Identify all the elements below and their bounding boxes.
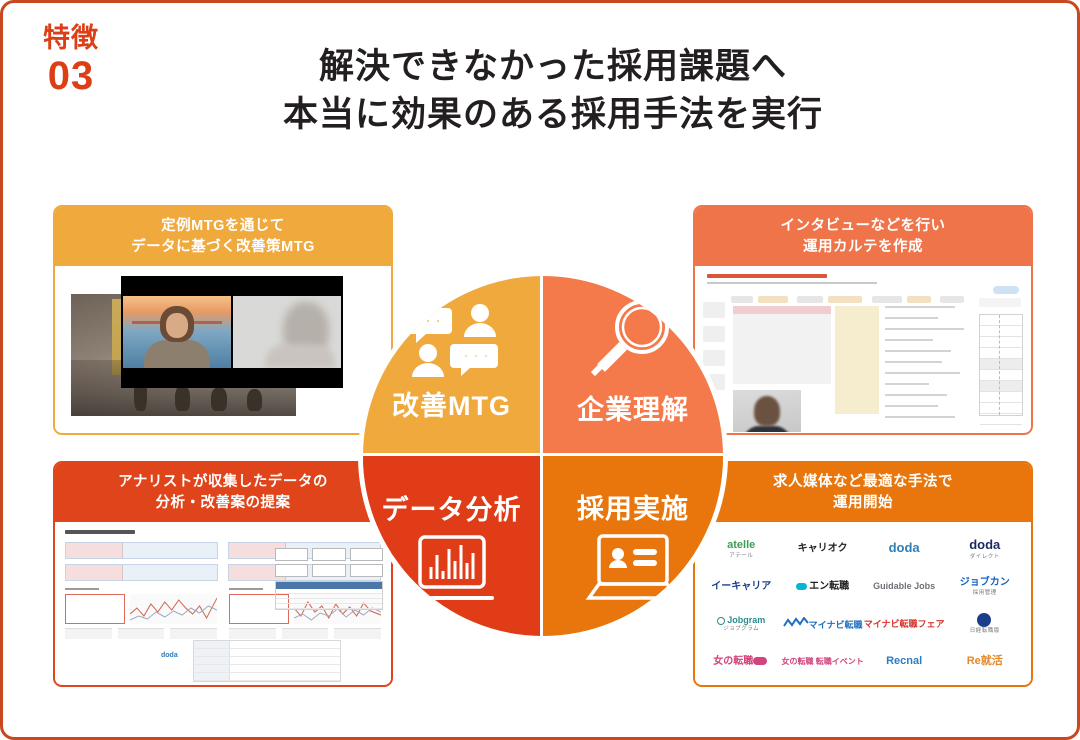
mynavi-mark-icon xyxy=(783,617,809,628)
photo-person xyxy=(175,385,190,411)
page-title-line-1: 解決できなかった採用課題へ xyxy=(153,43,953,91)
metric-highlight xyxy=(65,594,125,624)
logo-atelle: atelleアテール xyxy=(727,539,755,559)
logo-nikkei-tenshoku: 日経転職版 xyxy=(970,613,1000,634)
card-analyst-report: アナリストが収集したデータの 分析・改善案の提案 xyxy=(53,461,393,687)
doc-subtitle-bar xyxy=(707,282,877,284)
funnel-step xyxy=(312,564,345,577)
card-regular-mtg: 定例MTGを通じて データに基づく改善策MTG xyxy=(53,205,393,435)
card-regular-mtg-header: 定例MTGを通じて データに基づく改善策MTG xyxy=(55,207,391,266)
wheel-quadrant-saiyo-jisshi[interactable]: 採用実施 xyxy=(543,456,723,636)
table-row xyxy=(194,649,340,657)
video-tile-participant-1 xyxy=(123,296,231,368)
doc-info-panel xyxy=(733,306,831,384)
table-row xyxy=(194,673,340,681)
karte-spreadsheet-screenshot xyxy=(703,272,1023,426)
wheel-quadrant-kigyo-rikai[interactable]: 企業理解 xyxy=(543,276,723,456)
card-interview-karte-head-line-2: 運用カルテを作成 xyxy=(701,237,1025,258)
chart-caption xyxy=(65,588,99,590)
wheel-label-kigyo-rikai: 企業理解 xyxy=(577,388,689,427)
logo-doda-direct: dodaダイレクト xyxy=(969,538,1000,560)
doc-title-bar xyxy=(707,274,827,278)
mini-table xyxy=(229,628,381,639)
page-title: 解決できなかった採用課題へ 本当に効果のある採用手法を実行 xyxy=(153,43,953,140)
photo-person xyxy=(211,387,227,411)
photo-person xyxy=(247,389,262,411)
kpi-card xyxy=(65,542,218,559)
logo-mynavi-tenshoku-fair: マイナビ転職フェア xyxy=(864,619,945,629)
sheet-row xyxy=(980,348,1022,359)
logo-mynavi-tenshoku: マイナビ転職 xyxy=(783,617,863,630)
share-button[interactable] xyxy=(993,286,1019,294)
candidate-photo xyxy=(733,390,801,432)
wheel-quadrant-kaizen-mtg[interactable]: 改善MTG xyxy=(363,276,543,456)
card-analyst-report-head-line-2: 分析・改善案の提案 xyxy=(61,493,385,514)
card-job-media-head-line-1: 求人媒体など最適な手法で xyxy=(701,472,1025,493)
sheet-grid[interactable] xyxy=(979,314,1023,416)
laptop-profile-icon xyxy=(585,532,681,606)
sheet-column-divider xyxy=(999,315,1000,415)
wheel-label-kaizen-mtg: 改善MTG xyxy=(392,384,511,423)
table-row xyxy=(194,657,340,665)
logo-jobgram: Jobgramジョブグラム xyxy=(717,615,765,633)
trend-sparkline xyxy=(130,594,217,624)
sheet-row xyxy=(980,315,1022,326)
funnel-step xyxy=(312,548,345,561)
card-analyst-report-body: doda xyxy=(55,522,391,684)
media-breakdown-table xyxy=(193,640,341,682)
wheel-quadrant-data-bunseki[interactable]: データ分析 xyxy=(363,456,543,636)
participant-blurred-body xyxy=(265,344,335,368)
sheet-toolbar[interactable] xyxy=(979,298,1021,307)
sparkline-svg xyxy=(130,594,217,624)
card-regular-mtg-head-line-2: データに基づく改善策MTG xyxy=(61,237,385,258)
wheel-label-saiyo-jisshi: 採用実施 xyxy=(577,487,689,526)
logo-onna-no-tenshoku: 女の転職 xyxy=(713,656,769,668)
card-job-media: 求人媒体など最適な手法で 運用開始 atelleアテール キャリオク doda … xyxy=(693,461,1033,687)
video-tile-participant-2 xyxy=(233,296,341,368)
feature-badge: 特徴 03 xyxy=(25,25,117,96)
card-regular-mtg-head-line-1: 定例MTGを通じて xyxy=(61,216,385,237)
chart-caption xyxy=(229,588,263,590)
table-row xyxy=(194,665,340,673)
card-job-media-header: 求人媒体など最適な手法で 運用開始 xyxy=(695,463,1031,522)
highlighted-column xyxy=(835,306,879,414)
logo-en-tenshoku: エン転職 xyxy=(796,581,849,593)
doc-info-panel-header xyxy=(733,306,831,314)
kpi-card xyxy=(65,564,218,581)
card-analyst-report-header: アナリストが収集したデータの 分析・改善案の提案 xyxy=(55,463,391,522)
logo-guidable-jobs: Guidable Jobs xyxy=(873,581,935,591)
feature-badge-number: 03 xyxy=(25,56,117,96)
job-media-logo-grid: atelleアテール キャリオク doda dodaダイレクト イーキャリア エ… xyxy=(701,530,1025,680)
participant-body xyxy=(144,340,210,368)
bar-chart-laptop-icon xyxy=(410,533,494,605)
chat-people-icon xyxy=(404,300,500,378)
logo-recnal: Recnal xyxy=(886,655,922,668)
wheel-label-data-bunseki: データ分析 xyxy=(382,488,522,527)
logo-onna-no-tenshoku-event: 女の転職 転職イベント xyxy=(781,657,863,666)
card-interview-karte: インタビューなどを行い 運用カルテを作成 xyxy=(693,205,1033,435)
doda-brand-label: doda xyxy=(161,652,178,659)
logo-carrioku: キャリオク xyxy=(798,543,848,555)
participant-face xyxy=(166,313,188,338)
sheet-row xyxy=(980,370,1022,381)
logo-jobcan: ジョブカン採用管理 xyxy=(960,577,1010,596)
sheet-row xyxy=(980,381,1022,392)
sheet-row xyxy=(980,392,1022,403)
card-analyst-report-head-line-1: アナリストが収集したデータの xyxy=(61,472,385,493)
logo-doda: doda xyxy=(889,541,920,556)
card-job-media-head-line-2: 運用開始 xyxy=(701,493,1025,514)
media-breakdown-panel: doda xyxy=(161,640,341,682)
feature-badge-keyword: 特徴 xyxy=(25,25,117,52)
chart-panel xyxy=(65,588,217,639)
funnel-step xyxy=(275,564,308,577)
doc-notes-column xyxy=(885,306,973,414)
sheet-row xyxy=(980,337,1022,348)
table-row xyxy=(194,641,340,649)
mini-table xyxy=(65,628,217,639)
card-interview-karte-head-line-1: インタビューなどを行い xyxy=(701,216,1025,237)
card-regular-mtg-body xyxy=(55,266,391,432)
sheet-row xyxy=(980,359,1022,370)
card-interview-karte-body xyxy=(695,266,1031,432)
candidate-photo-shoulders xyxy=(743,426,791,432)
sheet-row xyxy=(980,326,1022,337)
candidate-photo-head xyxy=(754,396,780,426)
funnel-step xyxy=(275,548,308,561)
sheet-row xyxy=(980,414,1022,425)
dashboard-title-bar xyxy=(65,530,135,534)
logo-re-shukatsu: Re就活 xyxy=(967,655,1003,668)
analytics-dashboard-screenshot: doda xyxy=(65,530,381,680)
slide-root: 特徴 03 解決できなかった採用課題へ 本当に効果のある採用手法を実行 定例MT… xyxy=(0,0,1080,740)
video-call-screenshot xyxy=(121,276,343,388)
doc-tab-strip xyxy=(731,290,981,297)
page-title-line-2: 本当に効果のある採用手法を実行 xyxy=(153,91,953,139)
process-wheel: 改善MTG 企業理解 データ分析 xyxy=(358,271,728,641)
magnifier-icon xyxy=(587,296,679,382)
sheet-row xyxy=(980,403,1022,414)
card-job-media-body: atelleアテール キャリオク doda dodaダイレクト イーキャリア エ… xyxy=(695,522,1031,684)
card-interview-karte-header: インタビューなどを行い 運用カルテを作成 xyxy=(695,207,1031,266)
